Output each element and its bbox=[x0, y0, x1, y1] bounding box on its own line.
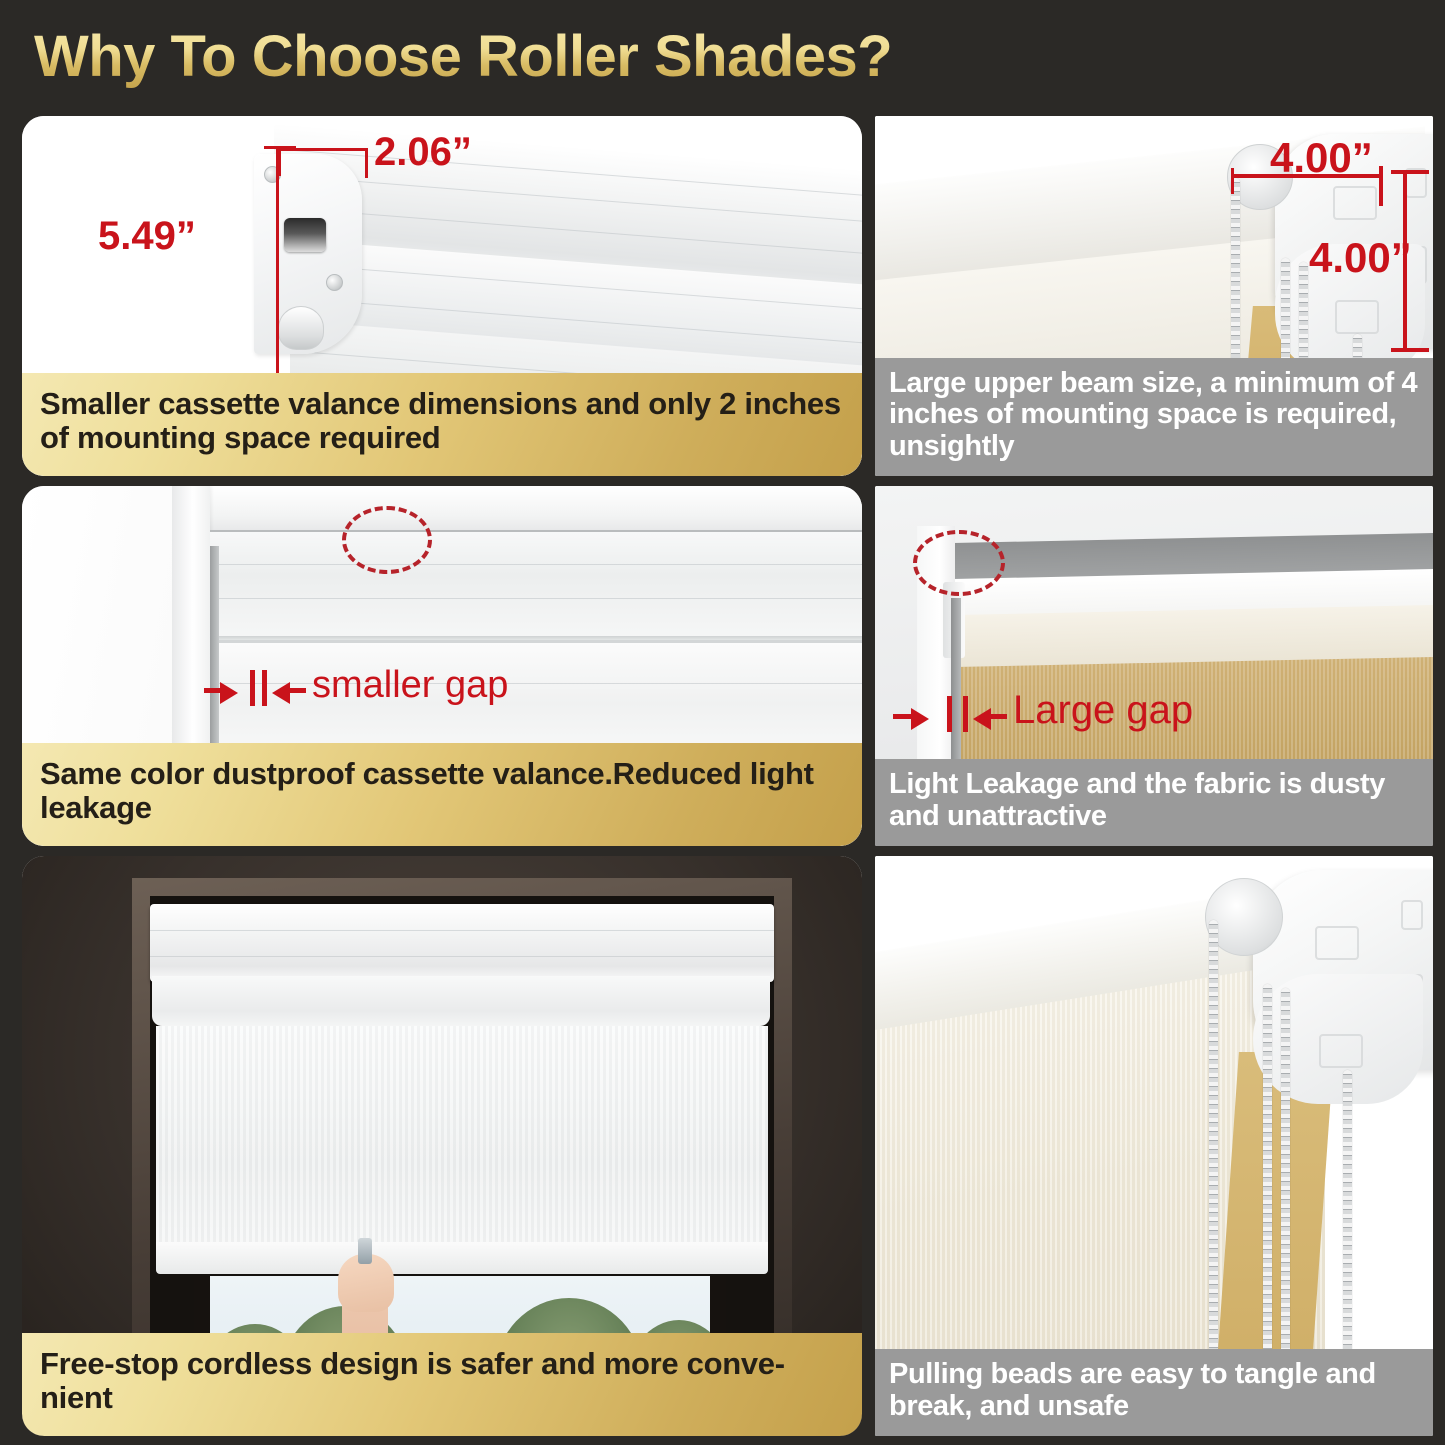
shade-side-edge bbox=[210, 546, 219, 746]
shade-bottom-rail bbox=[156, 1242, 768, 1274]
bead-chain-2 bbox=[1263, 984, 1272, 1364]
dim-tick-left bbox=[1231, 168, 1234, 194]
gap-tick-1 bbox=[947, 696, 952, 732]
bead-chain-1 bbox=[1209, 920, 1218, 1360]
dim-cap-top bbox=[264, 146, 296, 149]
dim-cap-bottom bbox=[1391, 348, 1429, 352]
shade-fabric bbox=[156, 1026, 768, 1256]
window-frame-left bbox=[172, 486, 210, 776]
window-frame-top bbox=[172, 486, 862, 530]
comparison-grid: 2.06” 5.49” Smaller cassette valance dim… bbox=[0, 108, 1445, 1445]
gap-shadow-bar bbox=[951, 598, 961, 776]
cassette-valance-illustration bbox=[162, 144, 862, 374]
gap-arrow-stem-left bbox=[893, 714, 915, 719]
gap-tick-1 bbox=[250, 670, 255, 706]
gap-arrow-stem-right bbox=[288, 688, 306, 693]
panel-middle-right[interactable]: Large gap Light Leakage and the fabric i… bbox=[875, 486, 1433, 846]
bracket-knob bbox=[278, 306, 324, 350]
gap-tick-2 bbox=[963, 696, 968, 732]
dimension-label-height: 5.49” bbox=[98, 214, 196, 259]
dim-tick-right bbox=[1379, 166, 1383, 206]
valance-end-cap bbox=[254, 154, 362, 354]
panel-top-right-caption: Large upper beam size, a minimum of 4 in… bbox=[875, 358, 1433, 476]
cassette-valance bbox=[150, 904, 774, 982]
gap-highlight-circle-icon bbox=[913, 530, 1005, 596]
panel-bottom-left[interactable]: Free-stop cordless design is safer and m… bbox=[22, 856, 862, 1436]
panel-bottom-right-caption: Pulling beads are easy to tangle and bre… bbox=[875, 1349, 1433, 1436]
panel-middle-left-caption: Same color dustproof cassette valance.Re… bbox=[22, 743, 862, 846]
panel-middle-right-caption: Light Leakage and the fabric is dusty an… bbox=[875, 759, 1433, 846]
bead-chain-4 bbox=[1343, 1070, 1352, 1366]
panel-top-left-caption: Smaller cassette valance dimensions and … bbox=[22, 373, 862, 476]
gap-arrow-right-icon bbox=[220, 682, 238, 704]
dim-cap-top bbox=[1391, 170, 1429, 174]
page-title: Why To Choose Roller Shades? bbox=[34, 22, 1134, 92]
gap-arrow-stem-right bbox=[989, 714, 1007, 719]
panel-bottom-left-caption: Free-stop cordless design is safer and m… bbox=[22, 1333, 862, 1436]
dimension-label-height: 4.00” bbox=[1309, 234, 1412, 282]
gap-highlight-circle-icon bbox=[342, 506, 432, 574]
gap-arrow-stem-left bbox=[204, 688, 224, 693]
bracket-slot bbox=[284, 218, 326, 252]
dimension-label-width: 4.00” bbox=[1270, 134, 1373, 182]
lower-bracket bbox=[1253, 974, 1423, 1104]
valance-front-lip bbox=[152, 976, 770, 1026]
panel-bottom-right[interactable]: Pulling beads are easy to tangle and bre… bbox=[875, 856, 1433, 1436]
dimension-label-width: 2.06” bbox=[374, 130, 472, 175]
gap-arrow-left-icon bbox=[272, 682, 290, 704]
gap-arrow-left-icon bbox=[973, 708, 991, 730]
gap-arrow-right-icon bbox=[911, 708, 929, 730]
panel-top-left[interactable]: 2.06” 5.49” Smaller cassette valance dim… bbox=[22, 116, 862, 476]
gap-label: smaller gap bbox=[312, 664, 508, 707]
gap-tick-2 bbox=[262, 670, 267, 706]
infographic-page: Why To Choose Roller Shades? bbox=[0, 0, 1445, 1445]
gap-label: Large gap bbox=[1013, 688, 1193, 733]
shade-pull-grip bbox=[358, 1238, 372, 1264]
panel-top-right[interactable]: 4.00” 4.00” Large upper beam size, a min… bbox=[875, 116, 1433, 476]
cassette-valance bbox=[210, 530, 862, 640]
dim-tick-right bbox=[365, 148, 368, 178]
bead-chain-3 bbox=[1281, 988, 1290, 1364]
dim-line-vertical bbox=[276, 146, 279, 356]
panel-middle-left[interactable]: smaller gap Same color dustproof cassett… bbox=[22, 486, 862, 846]
